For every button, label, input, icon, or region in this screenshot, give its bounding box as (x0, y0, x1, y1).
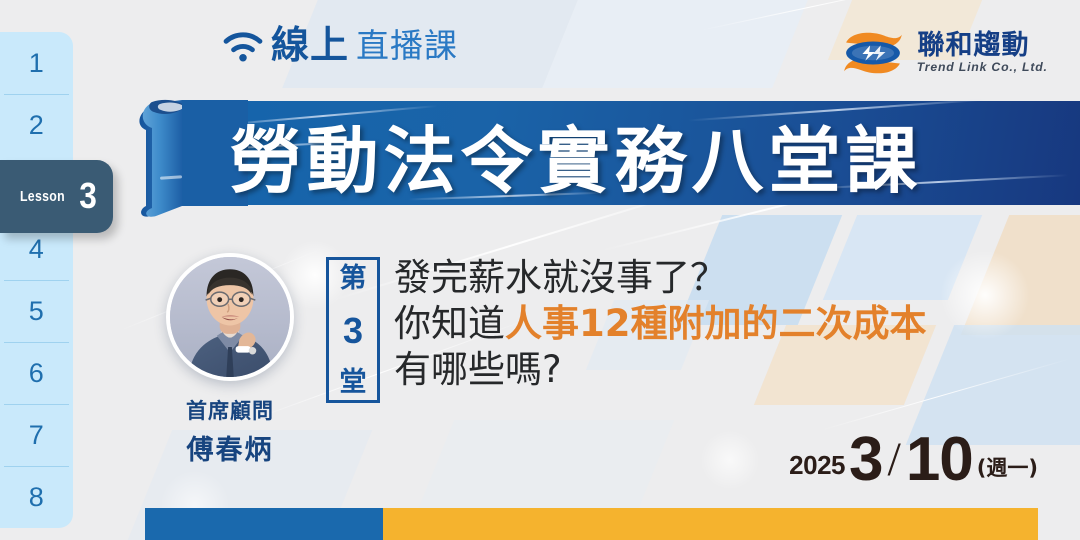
brand-text-group: 聯和趨動 Trend Link Co., Ltd. (918, 32, 1046, 74)
question-line-1: 發完薪水就沒事了？ (394, 255, 927, 301)
date-day: 10 (906, 432, 973, 488)
rail-item-2[interactable]: 2 (0, 94, 73, 156)
lesson-number: 3 (343, 313, 363, 349)
page-title: 勞動法令實務八堂課 (0, 88, 1080, 220)
rail-item-7[interactable]: 7 (0, 404, 73, 466)
lesson-prefix: 第 (340, 265, 367, 292)
live-stream-label: 線上 直播課 (222, 26, 458, 64)
bg-glow-2 (940, 250, 1030, 340)
question-line-2-highlight: 人事12種附加的二次成本 (505, 302, 927, 345)
event-date: 2025 3 / 10 (週一) (789, 432, 1038, 488)
wifi-icon (222, 30, 264, 62)
bg-parallelogram-tan-1 (961, 215, 1080, 335)
brand-name-en: Trend Link Co., Ltd. (916, 60, 1047, 74)
question-line-2-lead: 你知道 (394, 302, 505, 345)
bottom-accent-bar (145, 508, 1038, 540)
speaker-block: 首席顧問 傅春炳 (148, 253, 312, 467)
date-weekday: (週一) (977, 452, 1038, 482)
speaker-portrait-illustration (170, 257, 290, 377)
avatar (166, 253, 294, 381)
course-promo-poster: 1 2 3 4 5 6 7 8 Lesson 3 線上 直播課 (0, 0, 1080, 540)
title-ribbon: 勞動法令實務八堂課 (0, 88, 1080, 220)
rail-item-1[interactable]: 1 (0, 32, 73, 94)
speaker-name: 傅春炳 (148, 428, 312, 467)
live-soft-text: 直播課 (356, 29, 458, 62)
lesson-number-rail[interactable]: 1 2 3 4 5 6 7 8 (0, 32, 73, 528)
question-line-3: 有哪些嗎? (394, 347, 927, 393)
date-separator: / (887, 436, 900, 484)
question-line-2: 你知道人事12種附加的二次成本 (394, 301, 927, 347)
bottom-bar-yellow-segment (383, 508, 1038, 540)
speaker-role: 首席顧問 (148, 395, 312, 425)
live-strong-text: 線上 (271, 26, 349, 64)
lesson-badge-label: Lesson (19, 188, 64, 205)
brand-name-cn: 聯和趨動 (918, 32, 1046, 60)
bg-parallelogram-blue-6 (542, 0, 808, 88)
bg-light-streak-4 (700, 0, 945, 31)
lesson-suffix: 堂 (340, 369, 367, 396)
session-question: 發完薪水就沒事了？ 你知道人事12種附加的二次成本 有哪些嗎? (394, 255, 927, 393)
trend-link-logo-icon (838, 29, 908, 77)
bg-glow-3 (700, 430, 760, 490)
rail-item-5[interactable]: 5 (0, 280, 73, 342)
date-year: 2025 (789, 450, 845, 481)
lesson-badge-number: 3 (80, 178, 98, 214)
lesson-number-box: 第 3 堂 (326, 257, 380, 403)
bottom-bar-blue-segment (145, 508, 383, 540)
rail-item-6[interactable]: 6 (0, 342, 73, 404)
date-month: 3 (849, 432, 882, 488)
brand-logo: 聯和趨動 Trend Link Co., Ltd. (838, 29, 1046, 77)
rail-item-8[interactable]: 8 (0, 466, 73, 528)
active-lesson-badge[interactable]: Lesson 3 (0, 160, 113, 233)
